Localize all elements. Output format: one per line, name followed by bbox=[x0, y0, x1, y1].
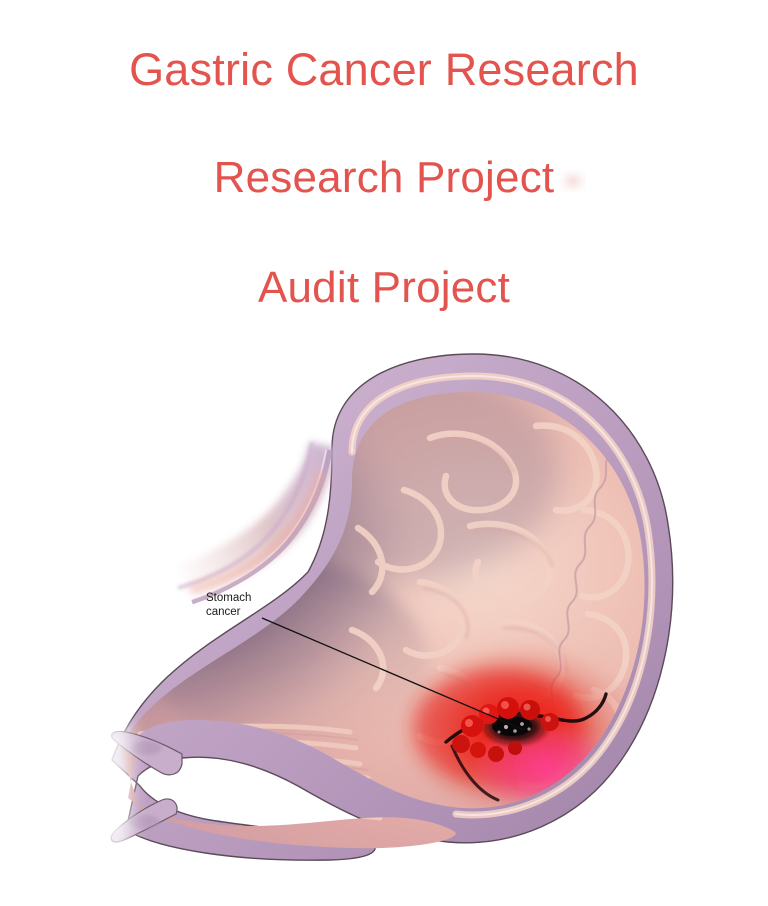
page-title-tertiary: Audit Project bbox=[0, 263, 768, 313]
callout-label-line-2: cancer bbox=[206, 606, 251, 620]
stomach-illustration: Stomach cancer bbox=[0, 330, 768, 906]
stomach-cross-section-image bbox=[0, 330, 768, 906]
callout-label: Stomach cancer bbox=[206, 592, 251, 619]
page-title-secondary: Research Project bbox=[0, 153, 768, 203]
tumor-lesion bbox=[402, 646, 638, 822]
callout-label-line-1: Stomach bbox=[206, 592, 251, 606]
title-block: Gastric Cancer Research Research Project… bbox=[0, 0, 768, 330]
page-title-primary: Gastric Cancer Research bbox=[0, 44, 768, 96]
